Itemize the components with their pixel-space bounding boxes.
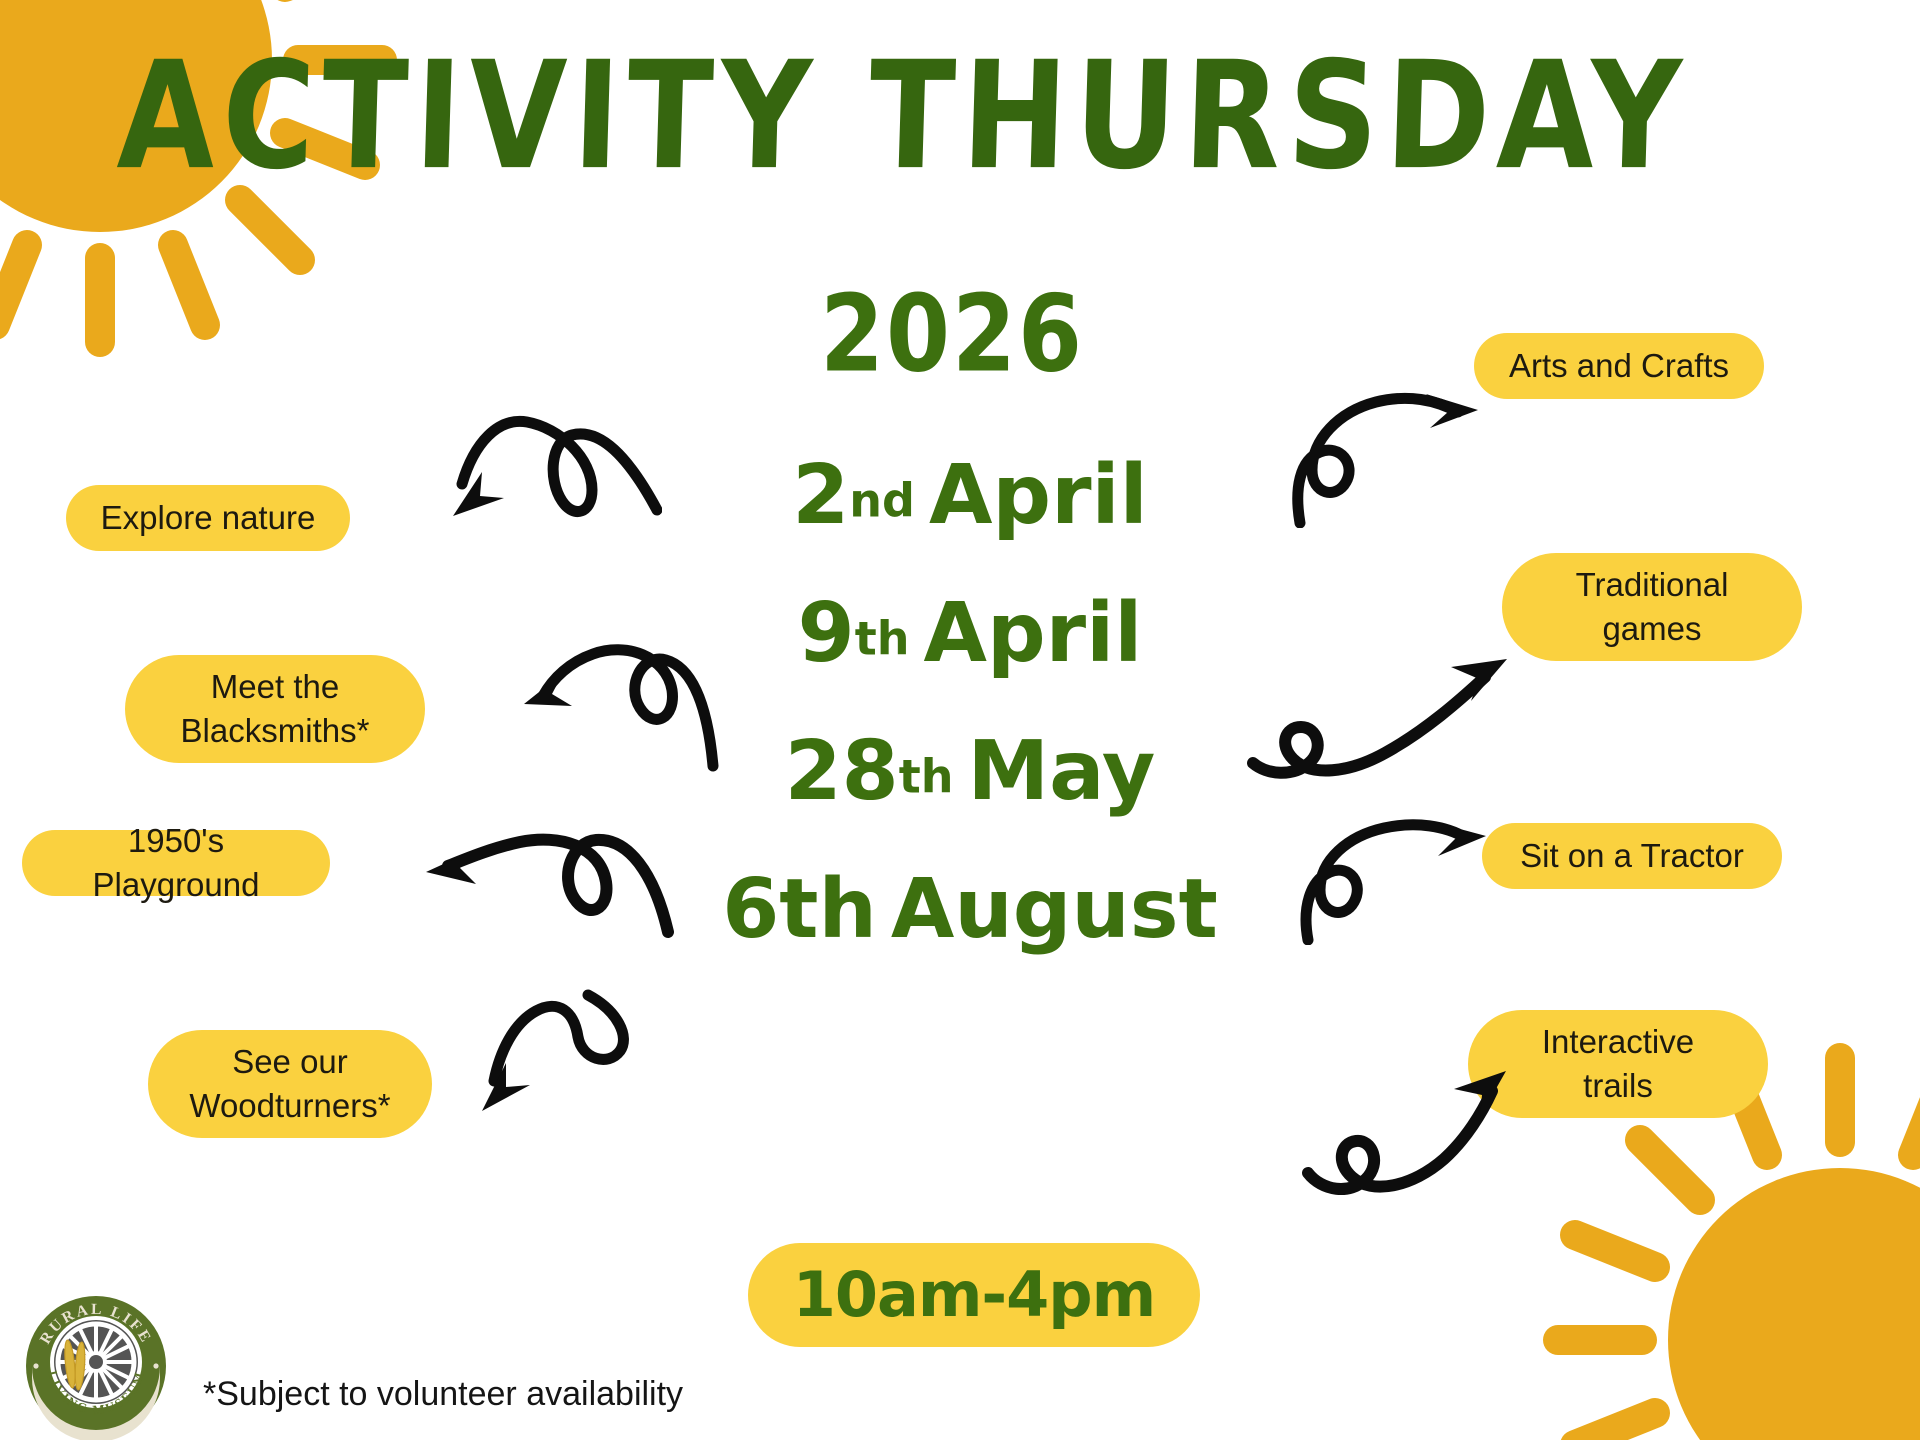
activity-pill-arts-and-crafts[interactable]: Arts and Crafts	[1474, 333, 1764, 399]
poster-canvas: ACTIVITY THURSDAY 2026 2ndApril 9thApril…	[0, 0, 1920, 1440]
activity-pill-sit-on-a-tractor[interactable]: Sit on a Tractor	[1482, 823, 1782, 889]
activity-pill-explore-nature[interactable]: Explore nature	[66, 485, 350, 551]
curly-arrow-right-icon	[1300, 1055, 1525, 1205]
date-month: May	[968, 724, 1156, 819]
date-row: 2ndApril	[620, 455, 1320, 537]
date-month: April	[923, 586, 1142, 681]
activity-label-line2: trails	[1542, 1064, 1694, 1108]
date-row: 6thAugust	[620, 869, 1320, 951]
activity-label: Sit on a Tractor	[1520, 834, 1744, 878]
activity-label: Explore nature	[101, 496, 316, 540]
activity-label-line2: Blacksmiths*	[181, 709, 370, 753]
date-number: 9	[798, 586, 855, 681]
activity-label: Arts and Crafts	[1509, 344, 1729, 388]
date-row: 9thApril	[620, 593, 1320, 675]
date-month: August	[891, 862, 1218, 957]
activity-pill-meet-the-blacksmiths[interactable]: Meet the Blacksmiths*	[125, 655, 425, 763]
activity-label: 1950's Playground	[48, 819, 304, 906]
footnote-text: *Subject to volunteer availability	[203, 1375, 683, 1414]
rural-life-living-museum-logo: RURAL LIFE LIVING MUSEUM	[22, 1292, 170, 1440]
activity-label-line1: See our	[189, 1040, 390, 1084]
date-number: 28	[785, 724, 899, 819]
date-ordinal: th	[855, 612, 910, 666]
date-number: 2	[792, 448, 849, 543]
date-ordinal: th	[899, 750, 954, 804]
curly-arrow-right-icon	[1290, 378, 1490, 528]
curly-arrow-left-icon	[400, 820, 675, 950]
activity-label-line1: Interactive	[1542, 1020, 1694, 1064]
curly-arrow-left-icon	[470, 985, 680, 1140]
year-heading: 2026	[820, 282, 1084, 388]
page-title: ACTIVITY THURSDAY	[116, 42, 1820, 191]
date-month: April	[929, 448, 1148, 543]
activity-label-line1: Traditional	[1576, 563, 1729, 607]
date-ordinal: nd	[849, 474, 915, 528]
activity-pill-traditional-games[interactable]: Traditional games	[1502, 553, 1802, 661]
activity-label-line1: Meet the	[181, 665, 370, 709]
curly-arrow-left-icon	[508, 638, 723, 783]
date-ordinal: th	[779, 862, 877, 957]
activity-pill-1950s-playground[interactable]: 1950's Playground	[22, 830, 330, 896]
activity-pill-see-our-woodturners[interactable]: See our Woodturners*	[148, 1030, 432, 1138]
opening-hours-pill: 10am-4pm	[748, 1243, 1200, 1347]
opening-hours-label: 10am-4pm	[793, 1254, 1156, 1336]
date-number: 6	[722, 862, 779, 957]
curly-arrow-right-icon	[1245, 645, 1520, 785]
date-list: 2ndApril 9thApril 28thMay 6thAugust	[620, 455, 1320, 951]
activity-label-line2: Woodturners*	[189, 1084, 390, 1128]
curly-arrow-left-icon	[432, 398, 662, 548]
curly-arrow-right-icon	[1300, 810, 1500, 945]
date-row: 28thMay	[620, 731, 1320, 813]
activity-label-line2: games	[1576, 607, 1729, 651]
